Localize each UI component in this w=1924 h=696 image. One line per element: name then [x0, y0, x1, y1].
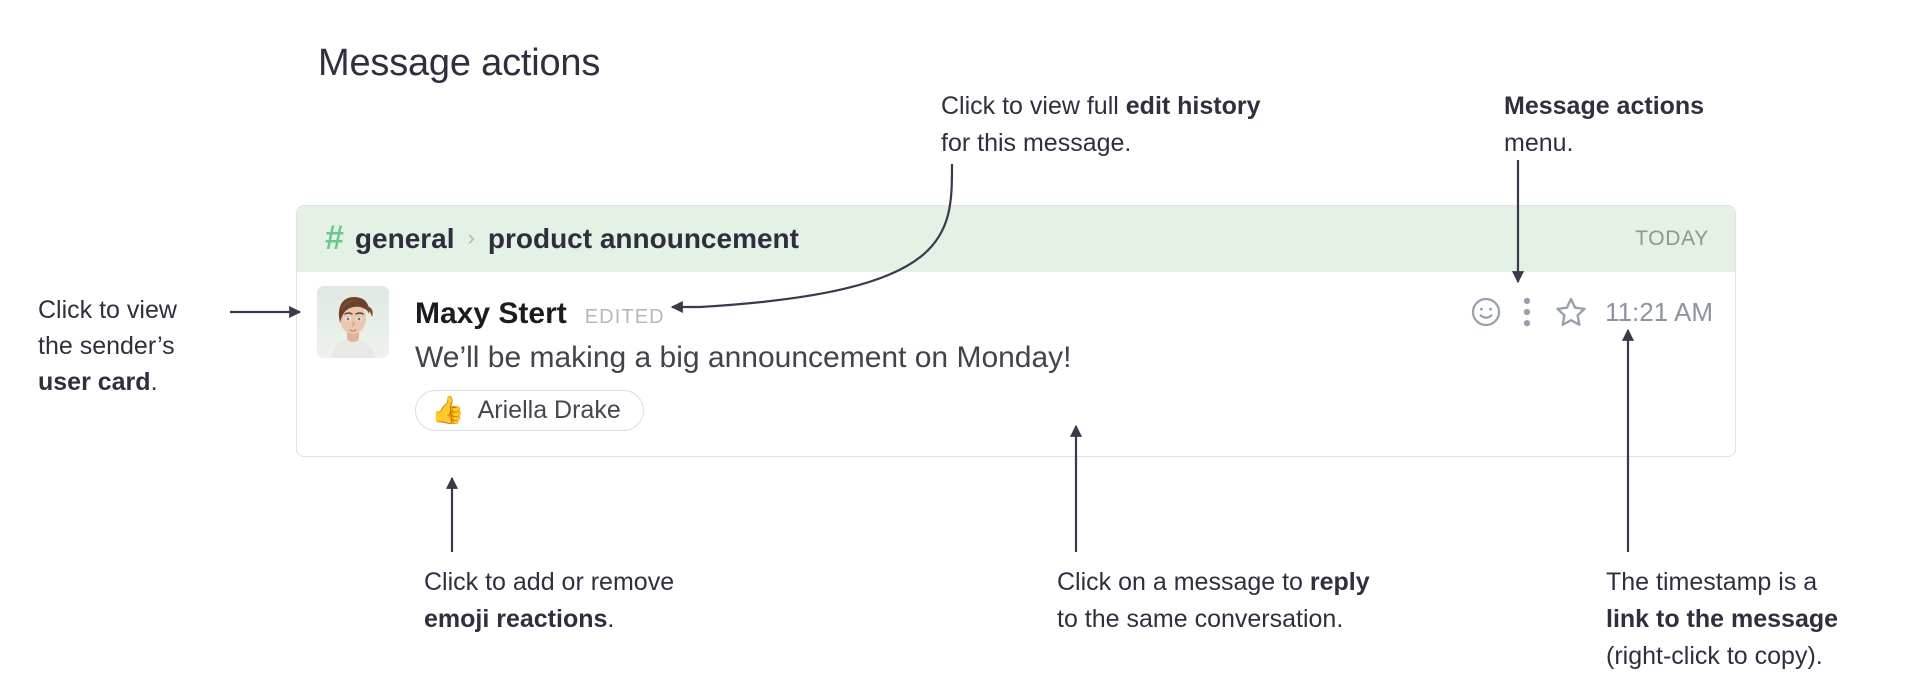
annotation-user-card-line2: the sender’s: [38, 328, 177, 364]
annotation-timestamp-line2-bold: link to the message: [1606, 605, 1838, 633]
edited-badge[interactable]: EDITED: [585, 306, 665, 329]
annotation-user-card-line1: Click to view: [38, 292, 177, 328]
annotation-actions-menu-line1-bold: Message actions: [1504, 92, 1704, 120]
annotation-actions-menu-line2: menu.: [1504, 125, 1704, 162]
annotation-emoji-reactions: Click to add or remove emoji reactions.: [424, 564, 674, 638]
thumbs-up-icon: 👍: [431, 397, 465, 424]
emoji-picker-icon[interactable]: [1469, 295, 1503, 329]
annotation-emoji-reactions-line1: Click to add or remove: [424, 564, 674, 601]
annotation-timestamp-line3: (right-click to copy).: [1606, 638, 1838, 675]
annotation-edit-history-line2: for this message.: [941, 125, 1261, 162]
chevron-right-icon: ›: [468, 227, 475, 249]
star-icon[interactable]: [1553, 294, 1589, 330]
channel-name-link[interactable]: general: [355, 223, 455, 255]
annotation-emoji-reactions-line2-bold: emoji reactions: [424, 605, 607, 633]
annotation-reply-line1: Click on a message to reply: [1057, 564, 1370, 601]
topic-name-link[interactable]: product announcement: [488, 223, 799, 255]
hash-icon: #: [325, 221, 344, 255]
annotation-timestamp: The timestamp is a link to the message (…: [1606, 564, 1838, 675]
annotation-reply-line2: to the same conversation.: [1057, 601, 1370, 638]
page-title: Message actions: [318, 42, 600, 85]
annotation-user-card-line3-bold: user card: [38, 368, 151, 396]
annotation-user-card-line3-post: .: [151, 368, 158, 396]
message-body[interactable]: We’ll be making a big announcement on Mo…: [415, 341, 1709, 375]
reaction-pill[interactable]: 👍 Ariella Drake: [415, 390, 644, 431]
message-actions-toolbar: 11:21 AM: [1469, 294, 1713, 330]
annotation-emoji-reactions-line2: emoji reactions.: [424, 601, 674, 638]
overflow-menu-icon[interactable]: [1521, 295, 1533, 329]
annotation-timestamp-line1: The timestamp is a: [1606, 564, 1838, 601]
sender-name[interactable]: Maxy Stert: [415, 297, 567, 331]
annotation-emoji-reactions-line2-post: .: [607, 605, 614, 633]
annotation-user-card: Click to view the sender’s user card.: [38, 292, 177, 400]
date-label: TODAY: [1635, 227, 1709, 251]
message-card: # general › product announcement TODAY: [296, 205, 1736, 457]
annotation-reply-line1-pre: Click on a message to: [1057, 568, 1310, 596]
annotation-user-card-line3: user card.: [38, 364, 177, 400]
annotation-edit-history: Click to view full edit history for this…: [941, 88, 1261, 162]
annotation-actions-menu: Message actions menu.: [1504, 88, 1704, 162]
annotation-reply-line1-bold: reply: [1310, 568, 1370, 596]
annotation-edit-history-line1-pre: Click to view full: [941, 92, 1126, 120]
avatar[interactable]: [317, 286, 389, 358]
annotation-edit-history-line1: Click to view full edit history: [941, 88, 1261, 125]
annotation-actions-menu-line1: Message actions: [1504, 88, 1704, 125]
annotation-timestamp-line2: link to the message: [1606, 601, 1838, 638]
annotation-reply: Click on a message to reply to the same …: [1057, 564, 1370, 638]
channel-header: # general › product announcement TODAY: [297, 206, 1735, 272]
annotation-edit-history-line1-bold: edit history: [1126, 92, 1261, 120]
reaction-user-name: Ariella Drake: [478, 396, 621, 425]
message-timestamp-link[interactable]: 11:21 AM: [1605, 297, 1713, 328]
message-row[interactable]: Maxy Stert EDITED We’ll be making a big …: [297, 272, 1735, 456]
